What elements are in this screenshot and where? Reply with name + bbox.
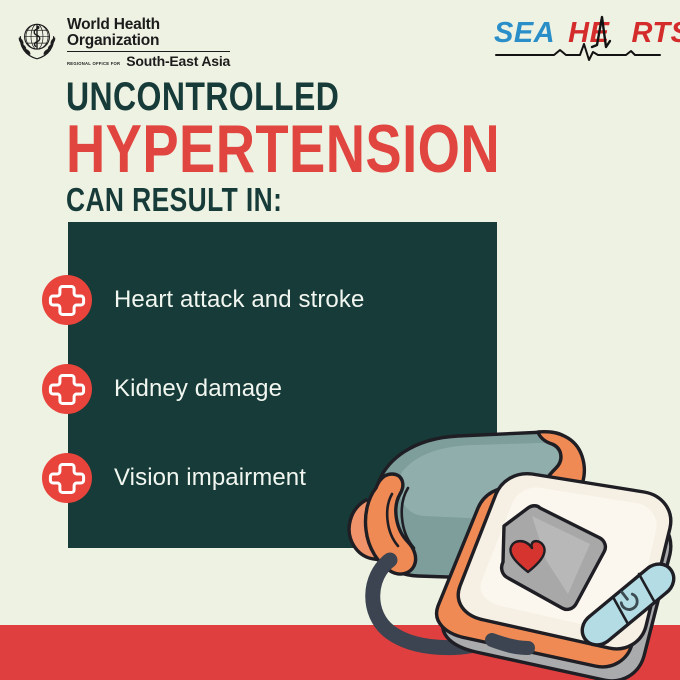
list-item: Vision impairment <box>42 450 482 506</box>
medical-cross-icon <box>42 453 92 503</box>
sea-hearts-logo: SEAHERTS <box>494 17 662 63</box>
who-emblem-icon <box>14 16 60 62</box>
who-logo: World Health Organization REGIONAL OFFIC… <box>14 16 230 68</box>
who-regional-prefix: REGIONAL OFFICE FOR <box>67 61 120 68</box>
list-item: Heart attack and stroke <box>42 272 482 328</box>
headline-line-2: HYPERTENSION <box>66 118 500 180</box>
consequences-list: Heart attack and stroke Kidney damage Vi… <box>42 272 482 539</box>
medical-cross-icon <box>42 275 92 325</box>
who-name-line-1: World Health <box>67 17 230 33</box>
infographic-poster: World Health Organization REGIONAL OFFIC… <box>0 0 680 680</box>
medical-cross-icon <box>42 364 92 414</box>
page-title: UNCONTROLLED HYPERTENSION CAN RESULT IN: <box>66 78 609 216</box>
who-name-line-2: Organization <box>67 33 230 49</box>
list-item: Kidney damage <box>42 361 482 417</box>
headline-line-3: CAN RESULT IN: <box>66 184 500 216</box>
ecg-spike-icon <box>590 15 612 49</box>
who-region-name: South-East Asia <box>126 54 230 68</box>
list-item-label: Kidney damage <box>114 375 282 403</box>
list-item-label: Vision impairment <box>114 464 306 492</box>
ecg-line-icon <box>494 41 662 63</box>
list-item-label: Heart attack and stroke <box>114 286 364 314</box>
